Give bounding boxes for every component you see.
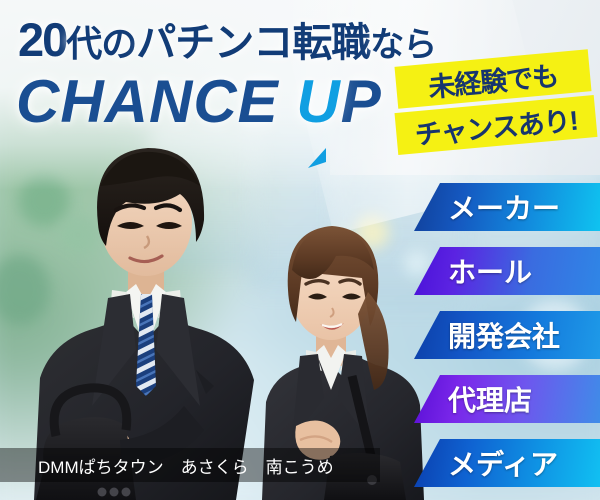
headline-keyword: パチンコ転職 bbox=[136, 21, 370, 65]
category-button-label: 代理店 bbox=[448, 379, 532, 419]
category-button-label: メーカー bbox=[448, 187, 560, 227]
logo-letter-u: U bbox=[296, 68, 340, 135]
logo-letter-p: P bbox=[341, 68, 382, 135]
category-button-label: ホール bbox=[448, 251, 532, 291]
category-button-developer[interactable]: 開発会社 bbox=[414, 311, 600, 359]
headline-unit: 代の bbox=[66, 23, 136, 64]
chance-up-logo: CHANCE UP bbox=[16, 72, 382, 132]
headline-number: 20 bbox=[18, 13, 66, 66]
category-button-media[interactable]: メディア bbox=[414, 439, 600, 487]
promo-banner: 20代のパチンコ転職なら CHANCE UP 未経験でも チャンスあり! メーカ… bbox=[0, 0, 600, 500]
credit-bar: DMMぱちタウン あさくら 南こうめ bbox=[0, 448, 380, 482]
credit-text: DMMぱちタウン あさくら 南こうめ bbox=[38, 453, 334, 478]
business-people-photo bbox=[0, 140, 430, 500]
headline-suffix: なら bbox=[370, 26, 436, 64]
category-button-label: 開発会社 bbox=[448, 315, 560, 355]
category-button-maker[interactable]: メーカー bbox=[414, 183, 600, 231]
logo-word-chance: CHANCE bbox=[16, 68, 279, 135]
category-button-hall[interactable]: ホール bbox=[414, 247, 600, 295]
category-button-label: メディア bbox=[448, 443, 558, 483]
category-button-agency[interactable]: 代理店 bbox=[414, 375, 600, 423]
page-headline: 20代のパチンコ転職なら bbox=[18, 16, 436, 63]
